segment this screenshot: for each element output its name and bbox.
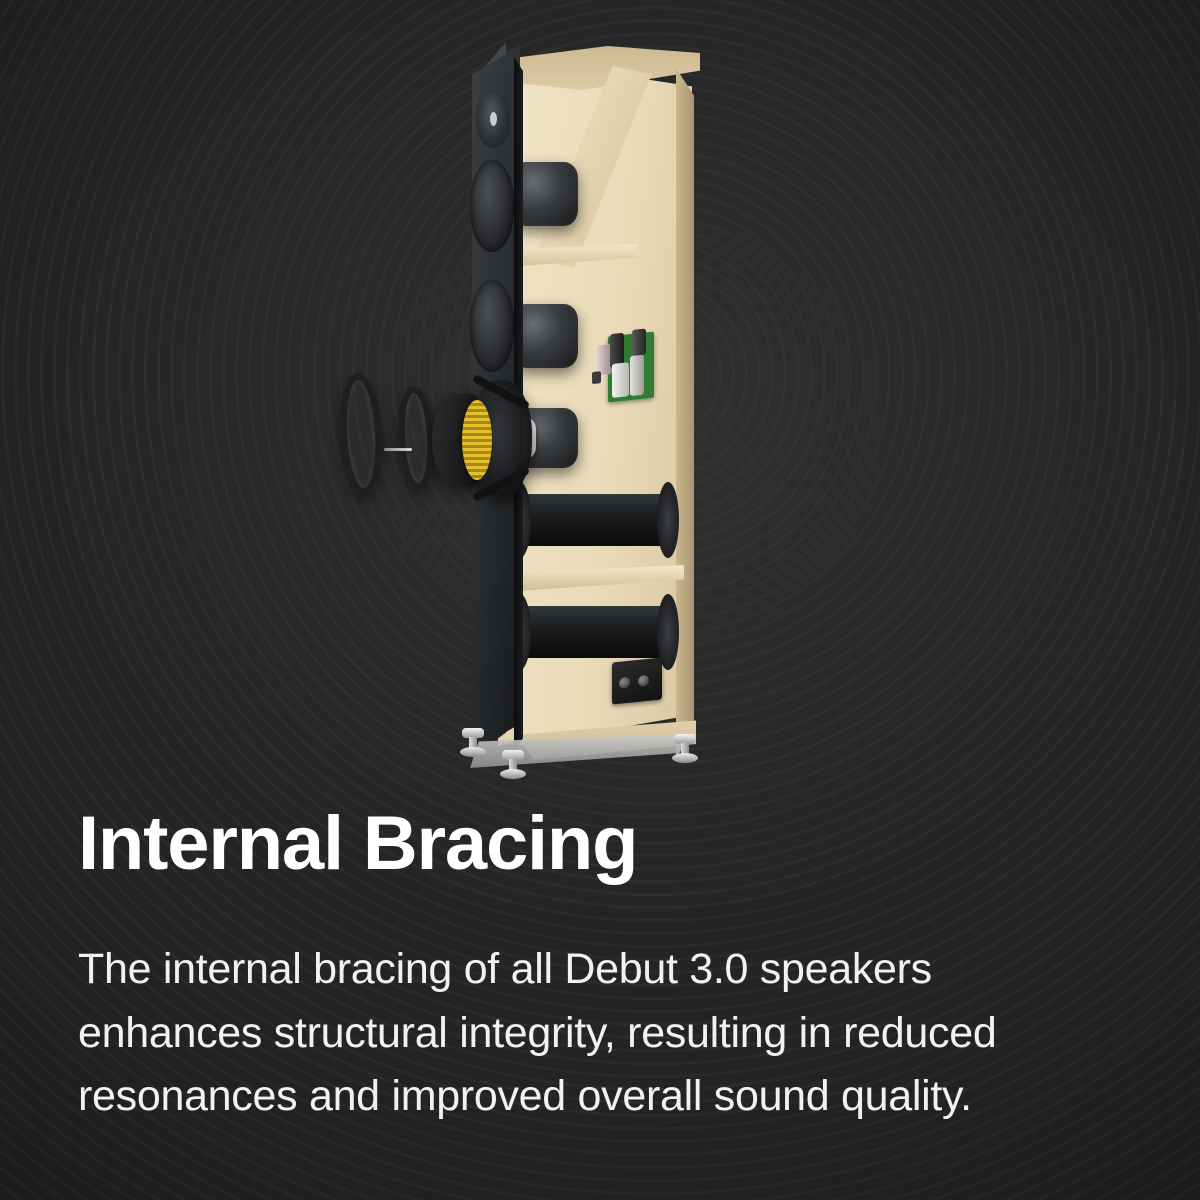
- speaker-cutaway-illustration: [320, 28, 740, 788]
- inductor-coil: [592, 371, 601, 384]
- page-title: Internal Bracing: [78, 806, 1098, 882]
- capacitor-d: [630, 355, 644, 396]
- port-flare-right: [657, 482, 679, 558]
- binding-post-terminal: [612, 657, 662, 704]
- body-copy: The internal bracing of all Debut 3.0 sp…: [78, 938, 1038, 1129]
- hero-image: [0, 0, 1200, 800]
- voice-coil: [462, 400, 492, 480]
- capacitor-e: [632, 328, 646, 355]
- foot-disc: [500, 769, 526, 779]
- foot-disc: [672, 753, 698, 763]
- spike-foot-front-left: [460, 728, 486, 758]
- capacitor-c: [612, 362, 629, 398]
- woofer-upper: [470, 160, 514, 252]
- spike-foot-front-right: [500, 750, 526, 780]
- crossover-board: [608, 332, 654, 403]
- surround-ring: [395, 385, 436, 491]
- port-tube-upper: [520, 494, 668, 546]
- spike-foot-rear-right: [672, 734, 698, 764]
- cabinet-outer-right-edge: [676, 68, 694, 758]
- text-block: Internal Bracing The internal bracing of…: [78, 806, 1098, 1129]
- woofer-lower: [470, 280, 514, 372]
- port-tube-lower: [520, 606, 668, 658]
- lead-wire: [384, 448, 412, 451]
- trim-ring: [337, 372, 385, 496]
- foot-disc: [460, 747, 486, 757]
- tweeter: [476, 90, 510, 148]
